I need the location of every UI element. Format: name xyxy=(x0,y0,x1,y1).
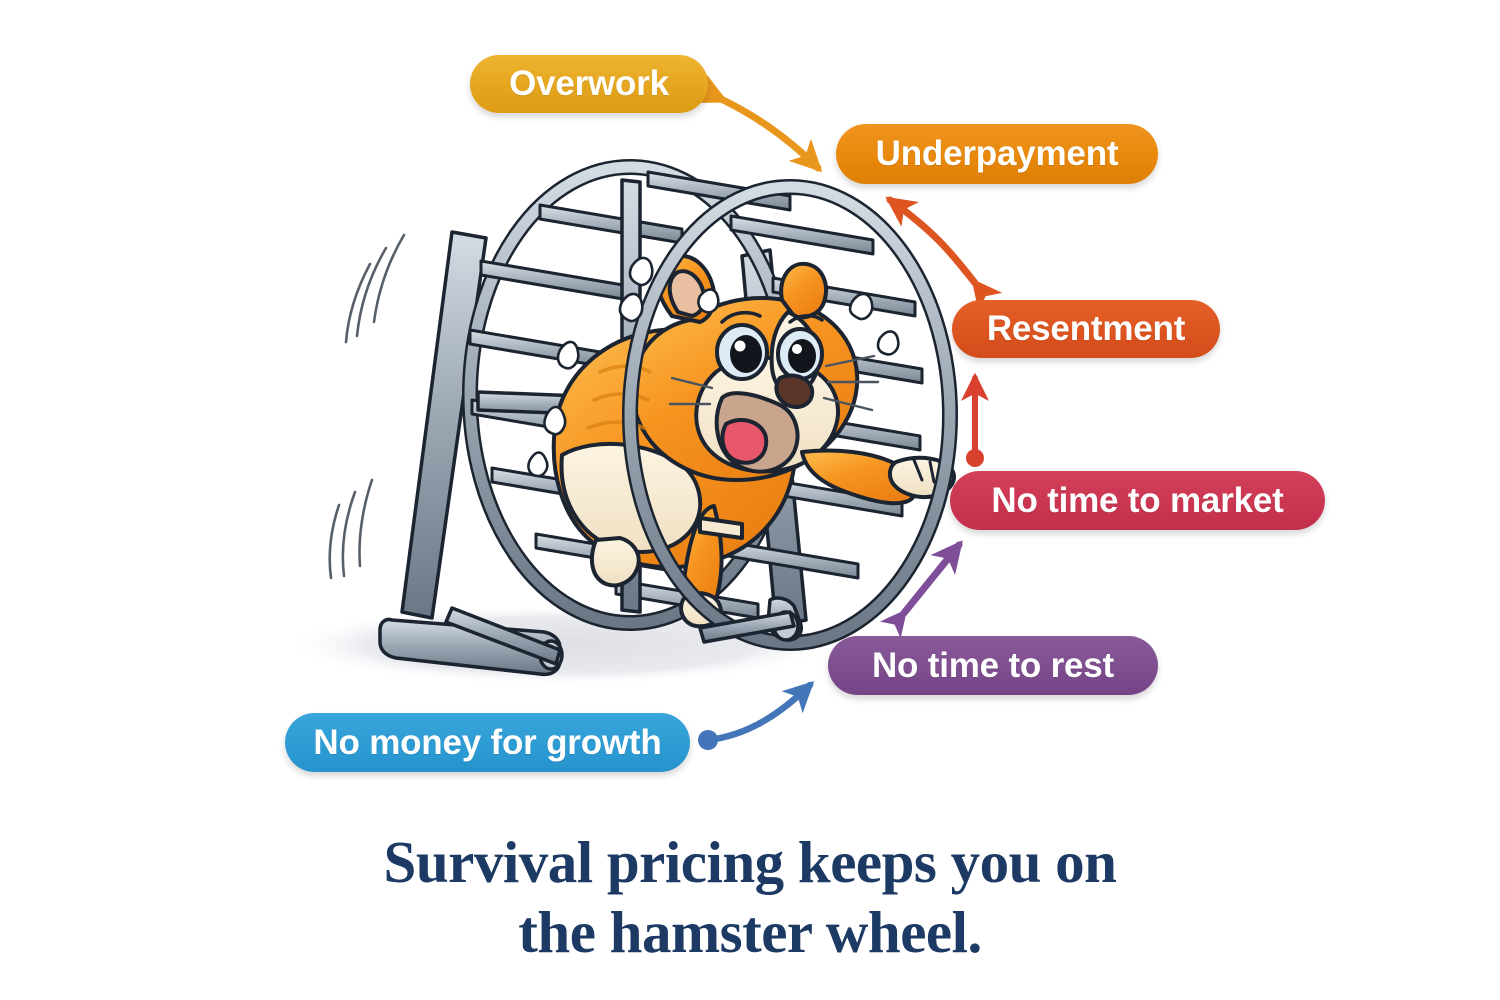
infographic-canvas: Overwork Underpayment Resentment No time… xyxy=(0,0,1500,1000)
badge-overwork-label: Overwork xyxy=(509,64,669,104)
caption-line-2: the hamster wheel. xyxy=(250,898,1250,968)
badge-no-money-for-growth-label: No money for growth xyxy=(313,723,661,763)
badge-resentment-label: Resentment xyxy=(987,309,1185,349)
badge-no-time-to-rest-label: No time to rest xyxy=(872,646,1114,686)
badge-underpayment-label: Underpayment xyxy=(876,134,1119,174)
badge-no-time-to-market[interactable]: No time to market xyxy=(950,471,1325,530)
badge-no-time-to-market-label: No time to market xyxy=(991,481,1283,521)
badge-no-money-for-growth[interactable]: No money for growth xyxy=(285,713,690,772)
caption-line-1: Survival pricing keeps you on xyxy=(250,828,1250,898)
badge-underpayment[interactable]: Underpayment xyxy=(836,124,1158,184)
badge-no-time-to-rest[interactable]: No time to rest xyxy=(828,636,1158,695)
caption: Survival pricing keeps you on the hamste… xyxy=(250,828,1250,967)
badge-overwork[interactable]: Overwork xyxy=(470,55,708,113)
badge-resentment[interactable]: Resentment xyxy=(952,300,1220,358)
motion-lines xyxy=(330,235,404,578)
